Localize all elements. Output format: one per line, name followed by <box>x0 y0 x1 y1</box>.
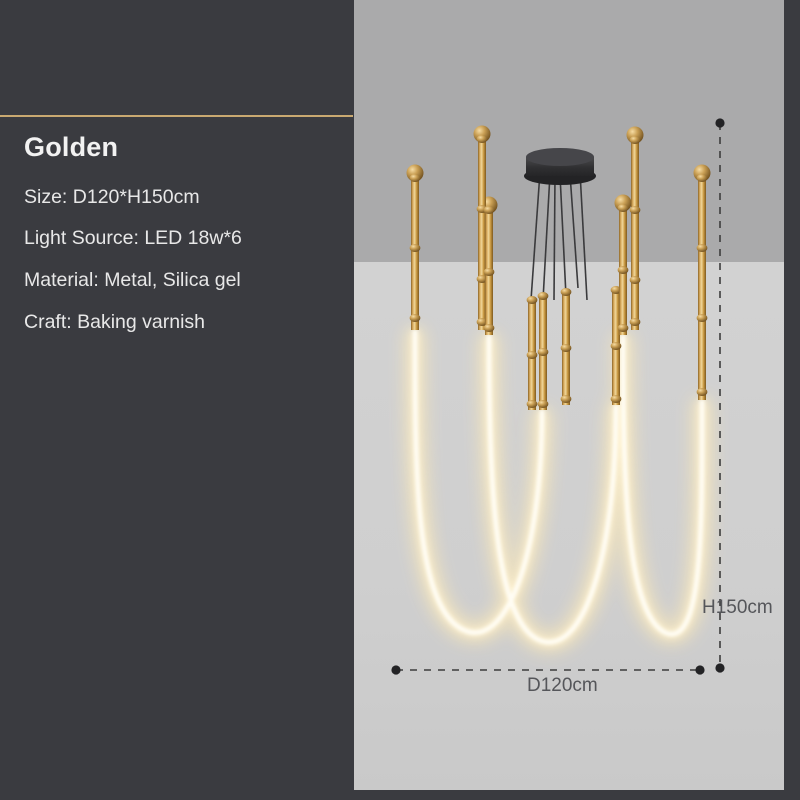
ceiling-canopy <box>524 148 596 185</box>
product-title: Golden <box>24 134 118 161</box>
product-showcase: Golden Size: D120*H150cm Light Source: L… <box>0 0 800 800</box>
pendant-light-fixture <box>354 0 784 790</box>
spec-light-source: Light Source: LED 18w*6 <box>24 229 242 249</box>
product-photo <box>354 0 784 790</box>
spec-size: Size: D120*H150cm <box>24 188 200 208</box>
info-panel: Golden Size: D120*H150cm Light Source: L… <box>0 0 354 800</box>
suspension-cables <box>531 172 587 300</box>
spec-material: Material: Metal, Silica gel <box>24 271 241 291</box>
width-dimension-label: D120cm <box>527 676 598 695</box>
led-glow-curves <box>415 330 702 642</box>
spec-craft: Craft: Baking varnish <box>24 313 205 333</box>
accent-divider <box>0 115 353 117</box>
height-dimension-label: H150cm <box>702 598 773 617</box>
